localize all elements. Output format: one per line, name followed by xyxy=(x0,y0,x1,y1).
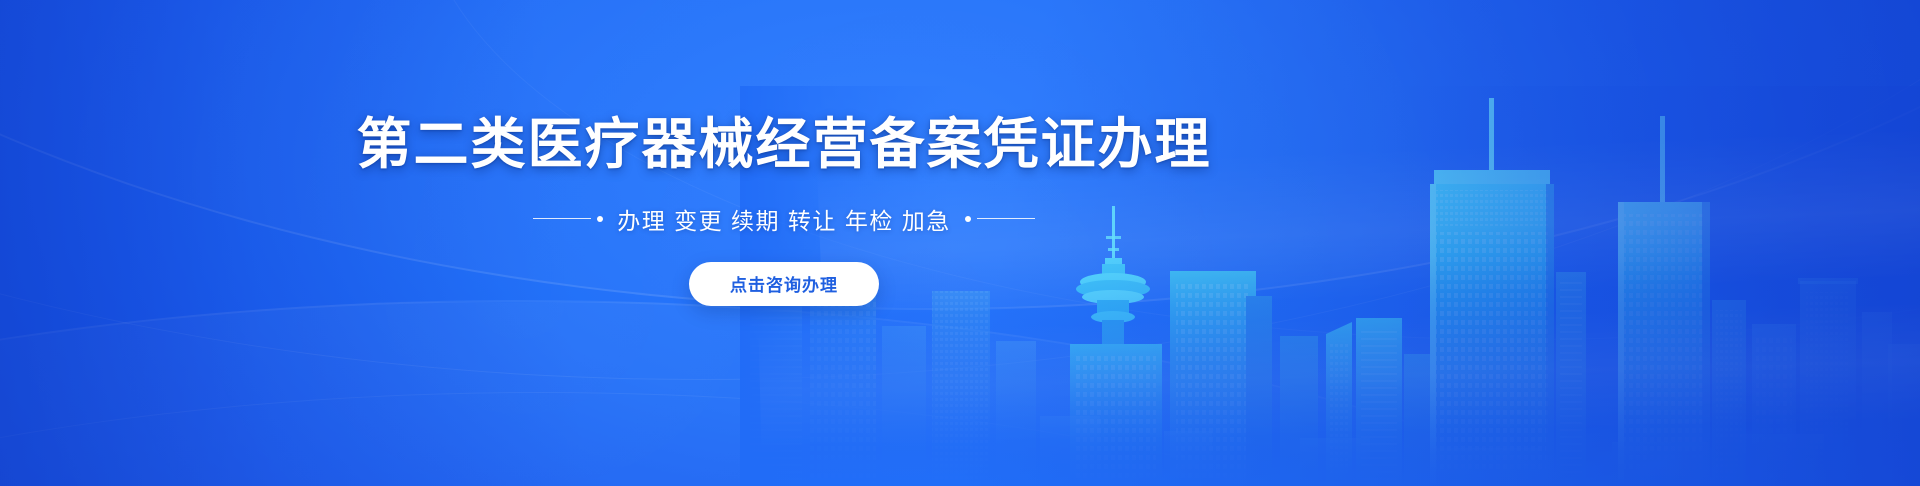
subtitle-text: 办理 变更 续期 转让 年检 加急 xyxy=(617,202,950,236)
promo-banner: 第二类医疗器械经营备案凭证办理 办理 变更 续期 转让 年检 加急 点击咨询办理 xyxy=(0,0,1920,486)
rule-icon xyxy=(533,218,591,219)
page-title: 第二类医疗器械经营备案凭证办理 xyxy=(356,114,1211,176)
dot-icon xyxy=(965,216,971,222)
subtitle-left-decoration xyxy=(533,216,603,222)
banner-content: 第二类医疗器械经营备案凭证办理 办理 变更 续期 转让 年检 加急 点击咨询办理 xyxy=(0,0,1568,486)
consult-cta-button[interactable]: 点击咨询办理 xyxy=(689,262,879,306)
rule-icon xyxy=(977,218,1035,219)
subtitle-row: 办理 变更 续期 转让 年检 加急 xyxy=(533,202,1034,236)
subtitle-right-decoration xyxy=(965,216,1035,222)
dot-icon xyxy=(597,216,603,222)
